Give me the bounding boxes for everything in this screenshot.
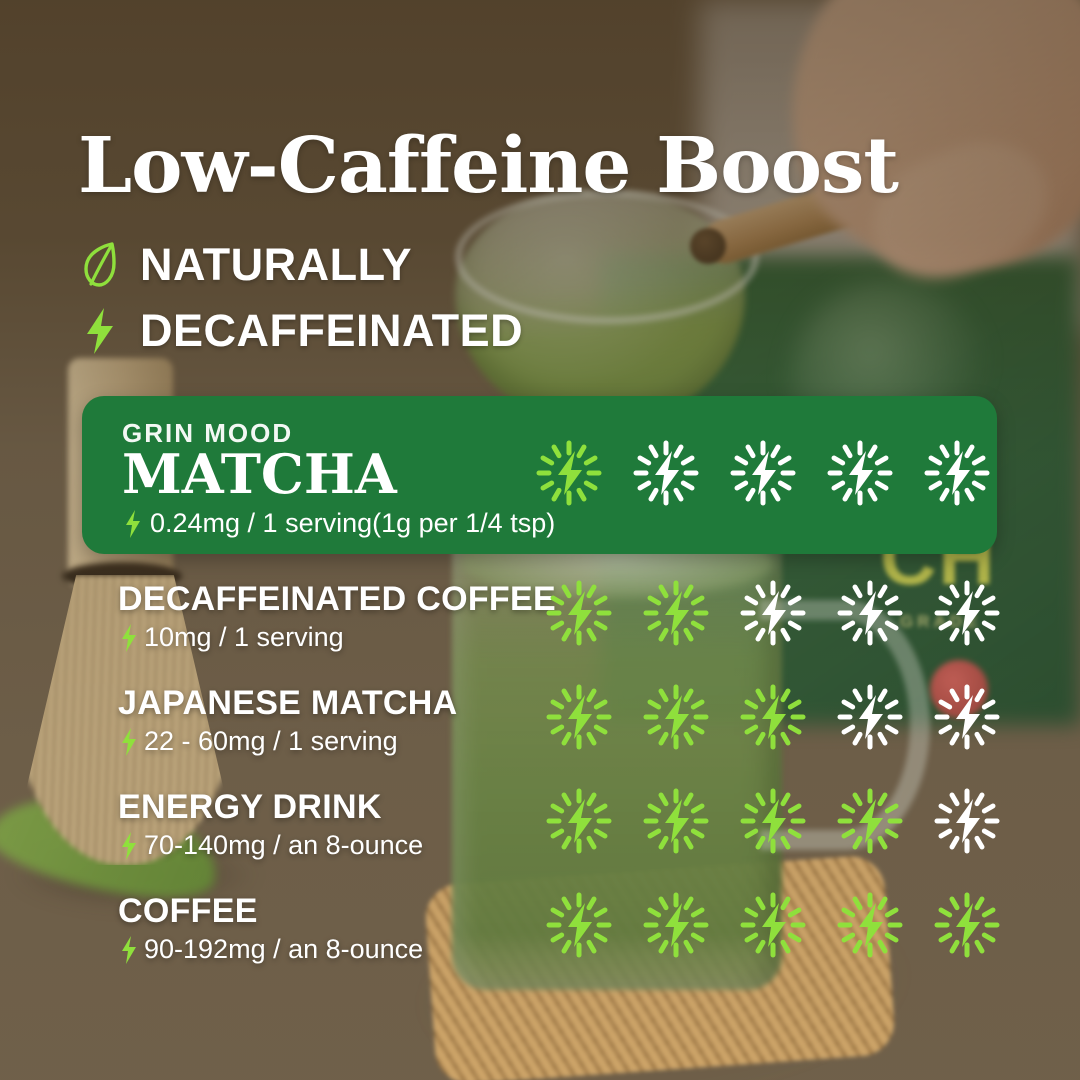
list-item: DECAFFEINATED COFFEE 10mg / 1 serving bbox=[118, 580, 556, 653]
list-item: JAPANESE MATCHA 22 - 60mg / 1 serving bbox=[118, 684, 458, 757]
bolt-burst-icon bbox=[922, 438, 992, 508]
bolt-burst-icon bbox=[738, 786, 808, 856]
content-layer: Low-Caffeine Boost NATURALLY DECAFFEINAT… bbox=[0, 0, 1080, 1080]
row-caffeine-value: 10mg / 1 serving bbox=[118, 622, 556, 653]
product-name: MATCHA bbox=[122, 447, 555, 502]
bolt-burst-icon bbox=[641, 578, 711, 648]
caffeine-meter bbox=[534, 438, 992, 508]
highlight-card-text: GRIN MOOD MATCHA 0.24mg / 1 serving(1g p… bbox=[122, 418, 555, 539]
bolt-icon bbox=[118, 831, 140, 861]
bolt-burst-icon bbox=[631, 438, 701, 508]
bolt-burst-icon bbox=[932, 786, 1002, 856]
bolt-burst-icon bbox=[534, 438, 604, 508]
highlight-card[interactable]: GRIN MOOD MATCHA 0.24mg / 1 serving(1g p… bbox=[82, 396, 997, 554]
bolt-burst-icon bbox=[641, 890, 711, 960]
page-title: Low-Caffeine Boost bbox=[78, 128, 898, 205]
bolt-icon bbox=[118, 727, 140, 757]
brand-name: GRIN MOOD bbox=[122, 418, 555, 449]
value-text: 0.24mg / 1 serving(1g per 1/4 tsp) bbox=[150, 508, 555, 539]
bolt-burst-icon bbox=[738, 682, 808, 752]
bolt-icon bbox=[122, 509, 144, 539]
caffeine-meter bbox=[544, 786, 1002, 856]
list-item: ENERGY DRINK 70-140mg / an 8-ounce bbox=[118, 788, 423, 861]
bolt-burst-icon bbox=[544, 578, 614, 648]
bolt-burst-icon bbox=[932, 890, 1002, 960]
bolt-burst-icon bbox=[544, 786, 614, 856]
claim-label: DECAFFEINATED bbox=[140, 305, 523, 357]
bolt-burst-icon bbox=[835, 890, 905, 960]
row-title: JAPANESE MATCHA bbox=[118, 684, 458, 723]
value-text: 90-192mg / an 8-ounce bbox=[144, 934, 423, 965]
row-title: DECAFFEINATED COFFEE bbox=[118, 580, 556, 619]
value-text: 70-140mg / an 8-ounce bbox=[144, 830, 423, 861]
product-caffeine-value: 0.24mg / 1 serving(1g per 1/4 tsp) bbox=[122, 508, 555, 539]
claim-decaffeinated: DECAFFEINATED bbox=[78, 298, 523, 364]
bolt-burst-icon bbox=[641, 786, 711, 856]
bolt-icon bbox=[78, 305, 122, 357]
row-caffeine-value: 70-140mg / an 8-ounce bbox=[118, 830, 423, 861]
value-text: 22 - 60mg / 1 serving bbox=[144, 726, 398, 757]
leaf-icon bbox=[78, 239, 122, 291]
bolt-icon bbox=[118, 623, 140, 653]
row-title: ENERGY DRINK bbox=[118, 788, 423, 827]
bolt-burst-icon bbox=[835, 682, 905, 752]
caffeine-meter bbox=[544, 578, 1002, 648]
bolt-burst-icon bbox=[544, 890, 614, 960]
bolt-burst-icon bbox=[738, 578, 808, 648]
bolt-icon bbox=[118, 935, 140, 965]
list-item: COFFEE 90-192mg / an 8-ounce bbox=[118, 892, 423, 965]
bolt-burst-icon bbox=[738, 890, 808, 960]
bolt-burst-icon bbox=[544, 682, 614, 752]
value-text: 10mg / 1 serving bbox=[144, 622, 344, 653]
claims-list: NATURALLY DECAFFEINATED bbox=[78, 232, 523, 364]
claim-naturally: NATURALLY bbox=[78, 232, 523, 298]
caffeine-meter bbox=[544, 890, 1002, 960]
bolt-burst-icon bbox=[641, 682, 711, 752]
bolt-burst-icon bbox=[932, 682, 1002, 752]
claim-label: NATURALLY bbox=[140, 239, 412, 291]
bolt-burst-icon bbox=[835, 578, 905, 648]
row-caffeine-value: 90-192mg / an 8-ounce bbox=[118, 934, 423, 965]
row-caffeine-value: 22 - 60mg / 1 serving bbox=[118, 726, 458, 757]
caffeine-meter bbox=[544, 682, 1002, 752]
bolt-burst-icon bbox=[728, 438, 798, 508]
bolt-burst-icon bbox=[835, 786, 905, 856]
bolt-burst-icon bbox=[932, 578, 1002, 648]
infographic-canvas: ooo CH GRADE Low-Caffeine Boost bbox=[0, 0, 1080, 1080]
bolt-burst-icon bbox=[825, 438, 895, 508]
row-title: COFFEE bbox=[118, 892, 423, 931]
